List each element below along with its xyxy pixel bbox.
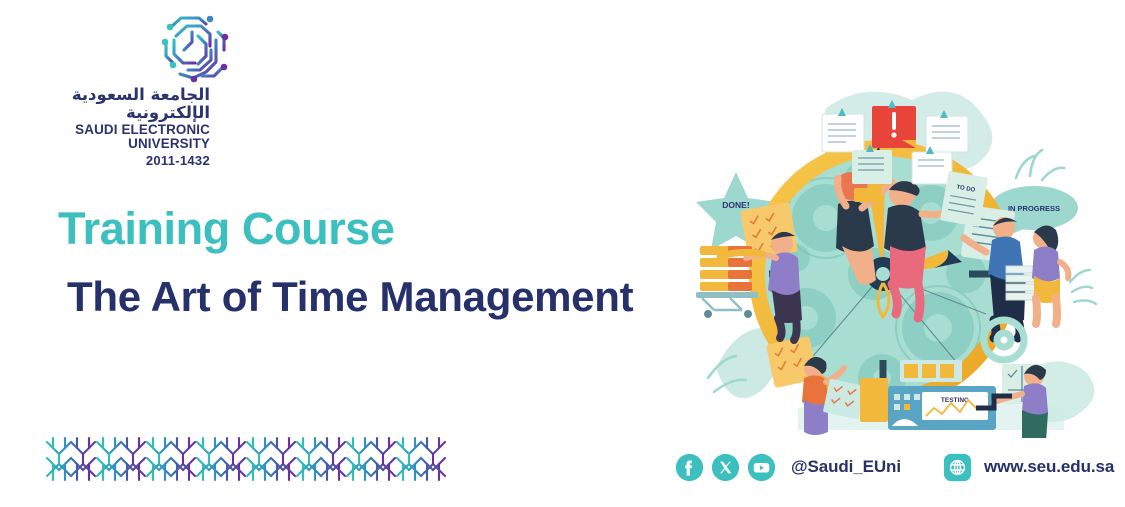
- globe-icon[interactable]: [943, 453, 972, 482]
- in-progress-label: IN PROGRESS: [1008, 204, 1060, 213]
- x-twitter-icon[interactable]: [711, 453, 740, 482]
- circuit-board-pattern: [45, 436, 449, 482]
- person-right-yellow: [1032, 225, 1068, 324]
- course-kicker: Training Course: [58, 206, 678, 251]
- training-course-banner: الجامعة السعودية الإلكترونية SAUDI ELECT…: [0, 0, 1125, 507]
- footer-social-bar: @Saudi_EUni www.seu.edu.sa: [675, 446, 1114, 488]
- time-management-clock-illustration: DONE! IN PROGRESS: [686, 78, 1110, 438]
- testing-label: TESTING: [941, 397, 969, 404]
- hexagon-circuit-logo-icon: [154, 10, 238, 86]
- logo-years: 2011-1432: [8, 154, 210, 168]
- facebook-icon[interactable]: [675, 453, 704, 482]
- logo-name-arabic: الجامعة السعودية الإلكترونية: [8, 86, 210, 122]
- website-url[interactable]: www.seu.edu.sa: [984, 457, 1114, 477]
- sticky-notes-top: [900, 360, 962, 382]
- page-title: The Art of Time Management: [67, 276, 678, 318]
- done-label: DONE!: [722, 200, 750, 210]
- headline-block: Training Course The Art of Time Manageme…: [58, 206, 678, 318]
- todo-card: TO DO: [940, 171, 988, 227]
- university-logo: الجامعة السعودية الإلكترونية SAUDI ELECT…: [8, 8, 218, 133]
- logo-name-english: SAUDI ELECTRONIC UNIVERSITY: [8, 123, 210, 152]
- logo-wordmark: الجامعة السعودية الإلكترونية SAUDI ELECT…: [8, 86, 210, 168]
- youtube-icon[interactable]: [747, 453, 776, 482]
- social-handle[interactable]: @Saudi_EUni: [791, 457, 901, 477]
